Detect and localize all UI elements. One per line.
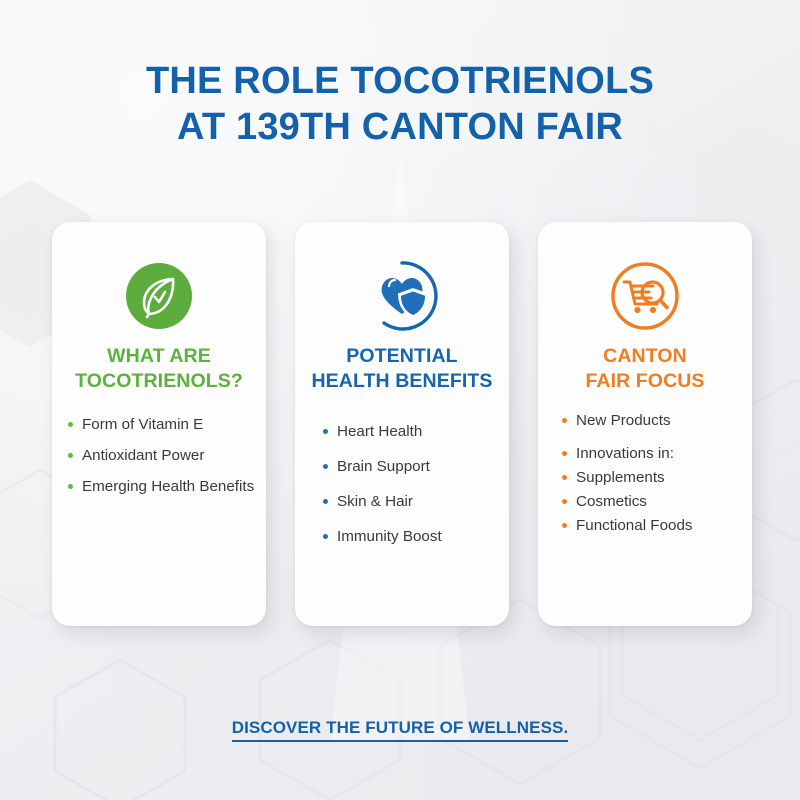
card-bullet-list: New Products Innovations in: Supplements… [538, 411, 752, 535]
card-icon-container [52, 248, 266, 344]
footer-cta[interactable]: DISCOVER THE FUTURE OF WELLNESS. [0, 718, 800, 738]
card-title: WHAT ARE TOCOTRIENOLS? [52, 344, 266, 394]
heart-shield-icon [365, 259, 439, 333]
list-item: Brain Support [321, 457, 505, 476]
list-item: Innovations in: [560, 444, 748, 463]
card-title-line-2: HEALTH BENEFITS [305, 369, 499, 394]
cart-search-icon [608, 259, 682, 333]
list-item: Supplements [560, 468, 748, 487]
card-title: CANTON FAIR FOCUS [538, 344, 752, 394]
card-title-line-1: WHAT ARE [62, 344, 256, 369]
card-bullet-list: Form of Vitamin E Antioxidant Power Emer… [52, 415, 266, 496]
list-item: Skin & Hair [321, 492, 505, 511]
card-icon-container [538, 248, 752, 344]
footer-cta-label: DISCOVER THE FUTURE OF WELLNESS. [232, 718, 569, 742]
list-item: Heart Health [321, 422, 505, 441]
page-title-line-2: AT 139TH CANTON FAIR [0, 104, 800, 150]
card-title-line-1: CANTON [548, 344, 742, 369]
page-title: THE ROLE TOCOTRIENOLS AT 139TH CANTON FA… [0, 58, 800, 150]
list-item: Antioxidant Power [66, 446, 262, 465]
page-title-line-1: THE ROLE TOCOTRIENOLS [0, 58, 800, 104]
card-title-line-2: TOCOTRIENOLS? [62, 369, 256, 394]
card-potential-health-benefits[interactable]: POTENTIAL HEALTH BENEFITS Heart Health B… [295, 222, 509, 626]
leaf-icon [124, 261, 194, 331]
list-item: Immunity Boost [321, 527, 505, 546]
card-title: POTENTIAL HEALTH BENEFITS [295, 344, 509, 394]
list-item: Emerging Health Benefits [66, 477, 262, 496]
card-title-line-2: FAIR FOCUS [548, 369, 742, 394]
card-icon-container [295, 248, 509, 344]
card-what-are-tocotrienols[interactable]: WHAT ARE TOCOTRIENOLS? Form of Vitamin E… [52, 222, 266, 626]
list-item: Functional Foods [560, 516, 748, 535]
card-bullet-list: Heart Health Brain Support Skin & Hair I… [295, 422, 509, 546]
card-canton-fair-focus[interactable]: CANTON FAIR FOCUS New Products Innovatio… [538, 222, 752, 626]
list-item: Cosmetics [560, 492, 748, 511]
card-row: WHAT ARE TOCOTRIENOLS? Form of Vitamin E… [52, 222, 752, 626]
card-title-line-1: POTENTIAL [305, 344, 499, 369]
list-item: Form of Vitamin E [66, 415, 262, 434]
list-item: New Products [560, 411, 748, 430]
